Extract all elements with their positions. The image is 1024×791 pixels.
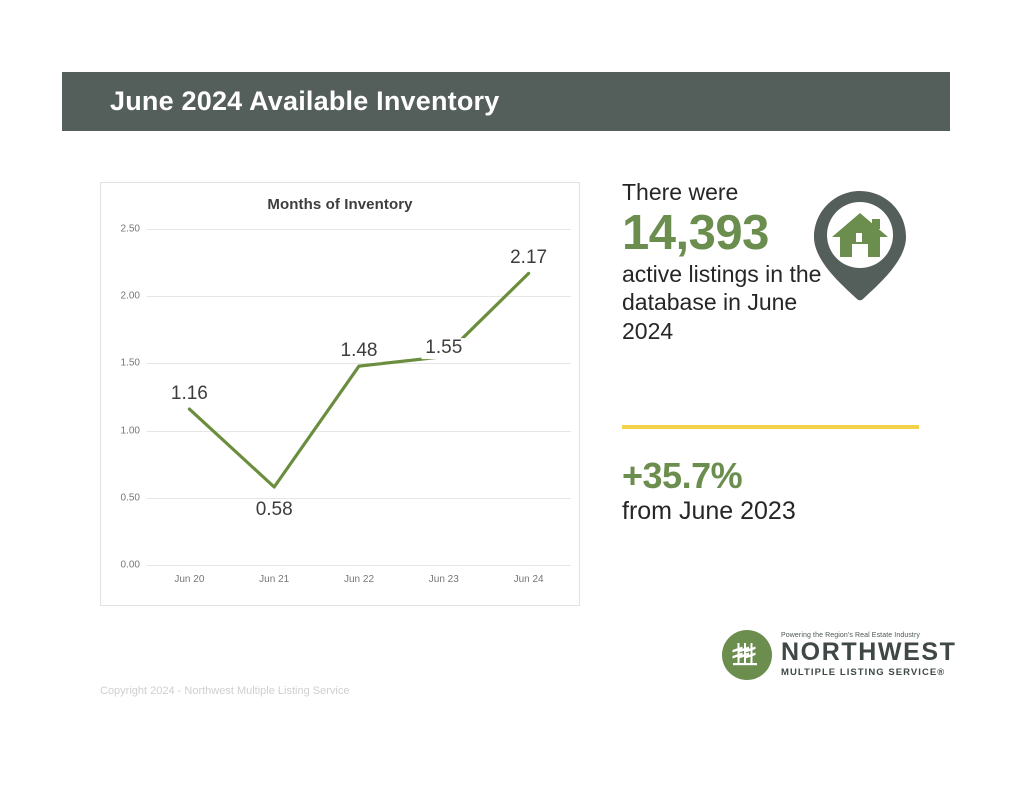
y-axis-tick-label: 1.50 xyxy=(121,358,140,369)
data-point-label: 0.58 xyxy=(252,500,297,521)
logo-text-block: Powering the Region's Real Estate Indust… xyxy=(781,632,957,678)
yoy-change-stat: +35.7% from June 2023 xyxy=(622,455,952,526)
logo-subtitle: MULTIPLE LISTING SERVICE® xyxy=(781,667,957,678)
map-pin-house-icon xyxy=(812,189,908,301)
x-axis-tick-label: Jun 21 xyxy=(259,574,289,585)
y-axis-tick-label: 2.00 xyxy=(121,291,140,302)
listings-prefix: There were xyxy=(622,179,738,205)
logo-name: NORTHWEST xyxy=(781,640,957,665)
change-percent-value: +35.7% xyxy=(622,455,952,496)
listings-count-value: 14,393 xyxy=(622,207,822,260)
inventory-chart-panel: Months of Inventory 0.000.501.001.502.00… xyxy=(100,182,580,606)
chart-title: Months of Inventory xyxy=(101,196,579,213)
page-title: June 2024 Available Inventory xyxy=(110,86,499,117)
y-axis-tick-label: 2.50 xyxy=(121,224,140,235)
data-point-label: 1.16 xyxy=(167,384,212,405)
three-trees-circle-icon xyxy=(722,630,772,680)
stats-divider xyxy=(622,425,919,429)
x-axis-tick-label: Jun 22 xyxy=(344,574,374,585)
copyright-notice: Copyright 2024 - Northwest Multiple List… xyxy=(100,685,349,697)
gridline xyxy=(147,565,571,566)
nwmls-logo: Powering the Region's Real Estate Indust… xyxy=(722,626,927,684)
data-point-label: 1.48 xyxy=(337,341,382,362)
x-axis-tick-label: Jun 23 xyxy=(429,574,459,585)
change-comparison-label: from June 2023 xyxy=(622,496,952,526)
y-axis-tick-label: 0.50 xyxy=(121,492,140,503)
data-point-label: 1.55 xyxy=(421,338,466,359)
chart-plot-area: 0.000.501.001.502.002.50 Jun 20Jun 21Jun… xyxy=(147,229,571,565)
x-axis-tick-label: Jun 24 xyxy=(514,574,544,585)
x-axis-tick-label: Jun 20 xyxy=(174,574,204,585)
y-axis-tick-label: 0.00 xyxy=(121,560,140,571)
y-axis-tick-label: 1.00 xyxy=(121,425,140,436)
listings-suffix: active listings in the database in June … xyxy=(622,261,821,345)
active-listings-text: There were 14,393 active listings in the… xyxy=(622,178,822,346)
page-header-bar: June 2024 Available Inventory xyxy=(62,72,950,131)
data-point-label: 2.17 xyxy=(506,248,551,269)
